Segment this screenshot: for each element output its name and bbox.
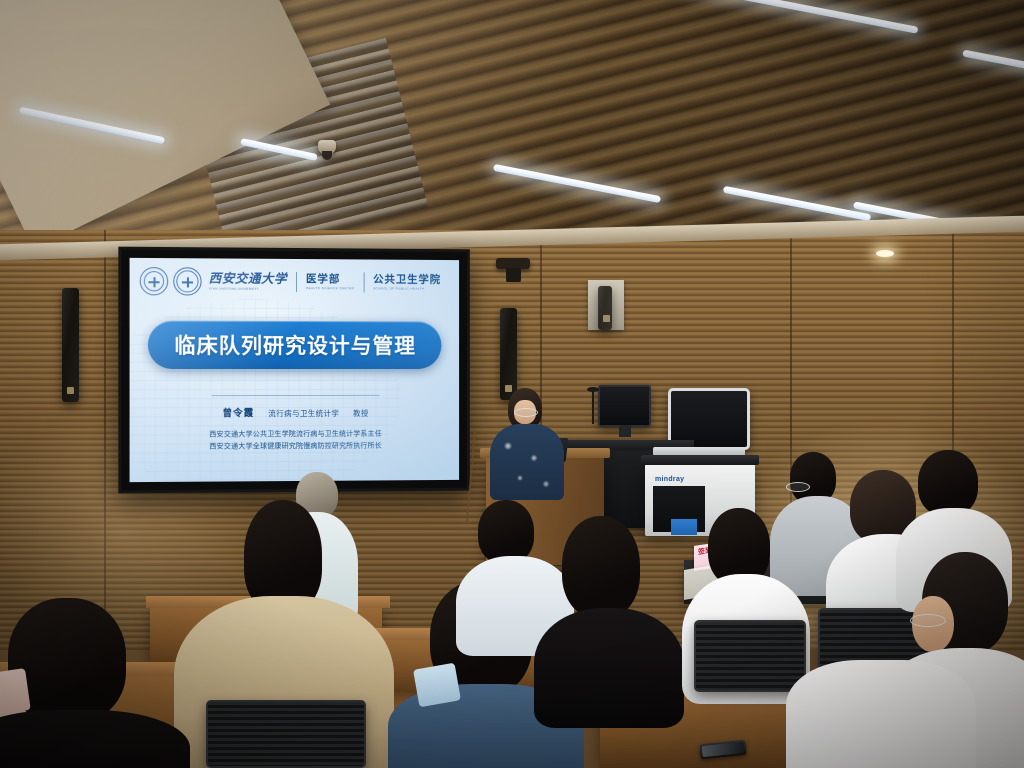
cart-brand-label: mindray (655, 476, 684, 483)
head (918, 450, 978, 516)
left-wall-speaker (62, 288, 79, 402)
lecture-hall-photo: 西安交通大学 XI'AN JIAOTONG UNIVERSITY 医学部 HEA… (0, 0, 1024, 768)
wall-downlight-icon (876, 250, 894, 257)
torso (786, 660, 976, 768)
glasses-icon[interactable] (910, 614, 946, 627)
presentation-slide: 西安交通大学 XI'AN JIAOTONG UNIVERSITY 医学部 HEA… (130, 258, 460, 482)
screen-glare (130, 258, 460, 482)
monitor-left (598, 385, 651, 427)
dome-camera-icon (318, 140, 336, 154)
right-wall-speaker (500, 308, 517, 400)
audience-member (786, 640, 966, 768)
ceiling (0, 0, 1024, 250)
head (562, 516, 640, 618)
chair[interactable] (206, 700, 366, 768)
presenter (492, 388, 562, 498)
microphone-icon (592, 390, 594, 424)
cart-top-unit (641, 455, 759, 465)
glasses-icon (786, 482, 810, 492)
torso (534, 608, 684, 728)
torso (0, 710, 190, 768)
audience-member (470, 500, 556, 646)
cart-badge (671, 519, 697, 535)
audience-member (552, 516, 662, 716)
projection-screen[interactable]: 西安交通大学 XI'AN JIAOTONG UNIVERSITY 医学部 HEA… (118, 247, 469, 494)
face-mask (413, 663, 461, 708)
glasses-icon (514, 408, 538, 417)
head (478, 500, 534, 564)
ceiling-shading (0, 0, 1024, 250)
presenter-torso (490, 424, 564, 500)
audience-member (0, 598, 170, 768)
projector-mount-icon (496, 258, 530, 269)
right-wall-speaker-2 (598, 286, 612, 330)
